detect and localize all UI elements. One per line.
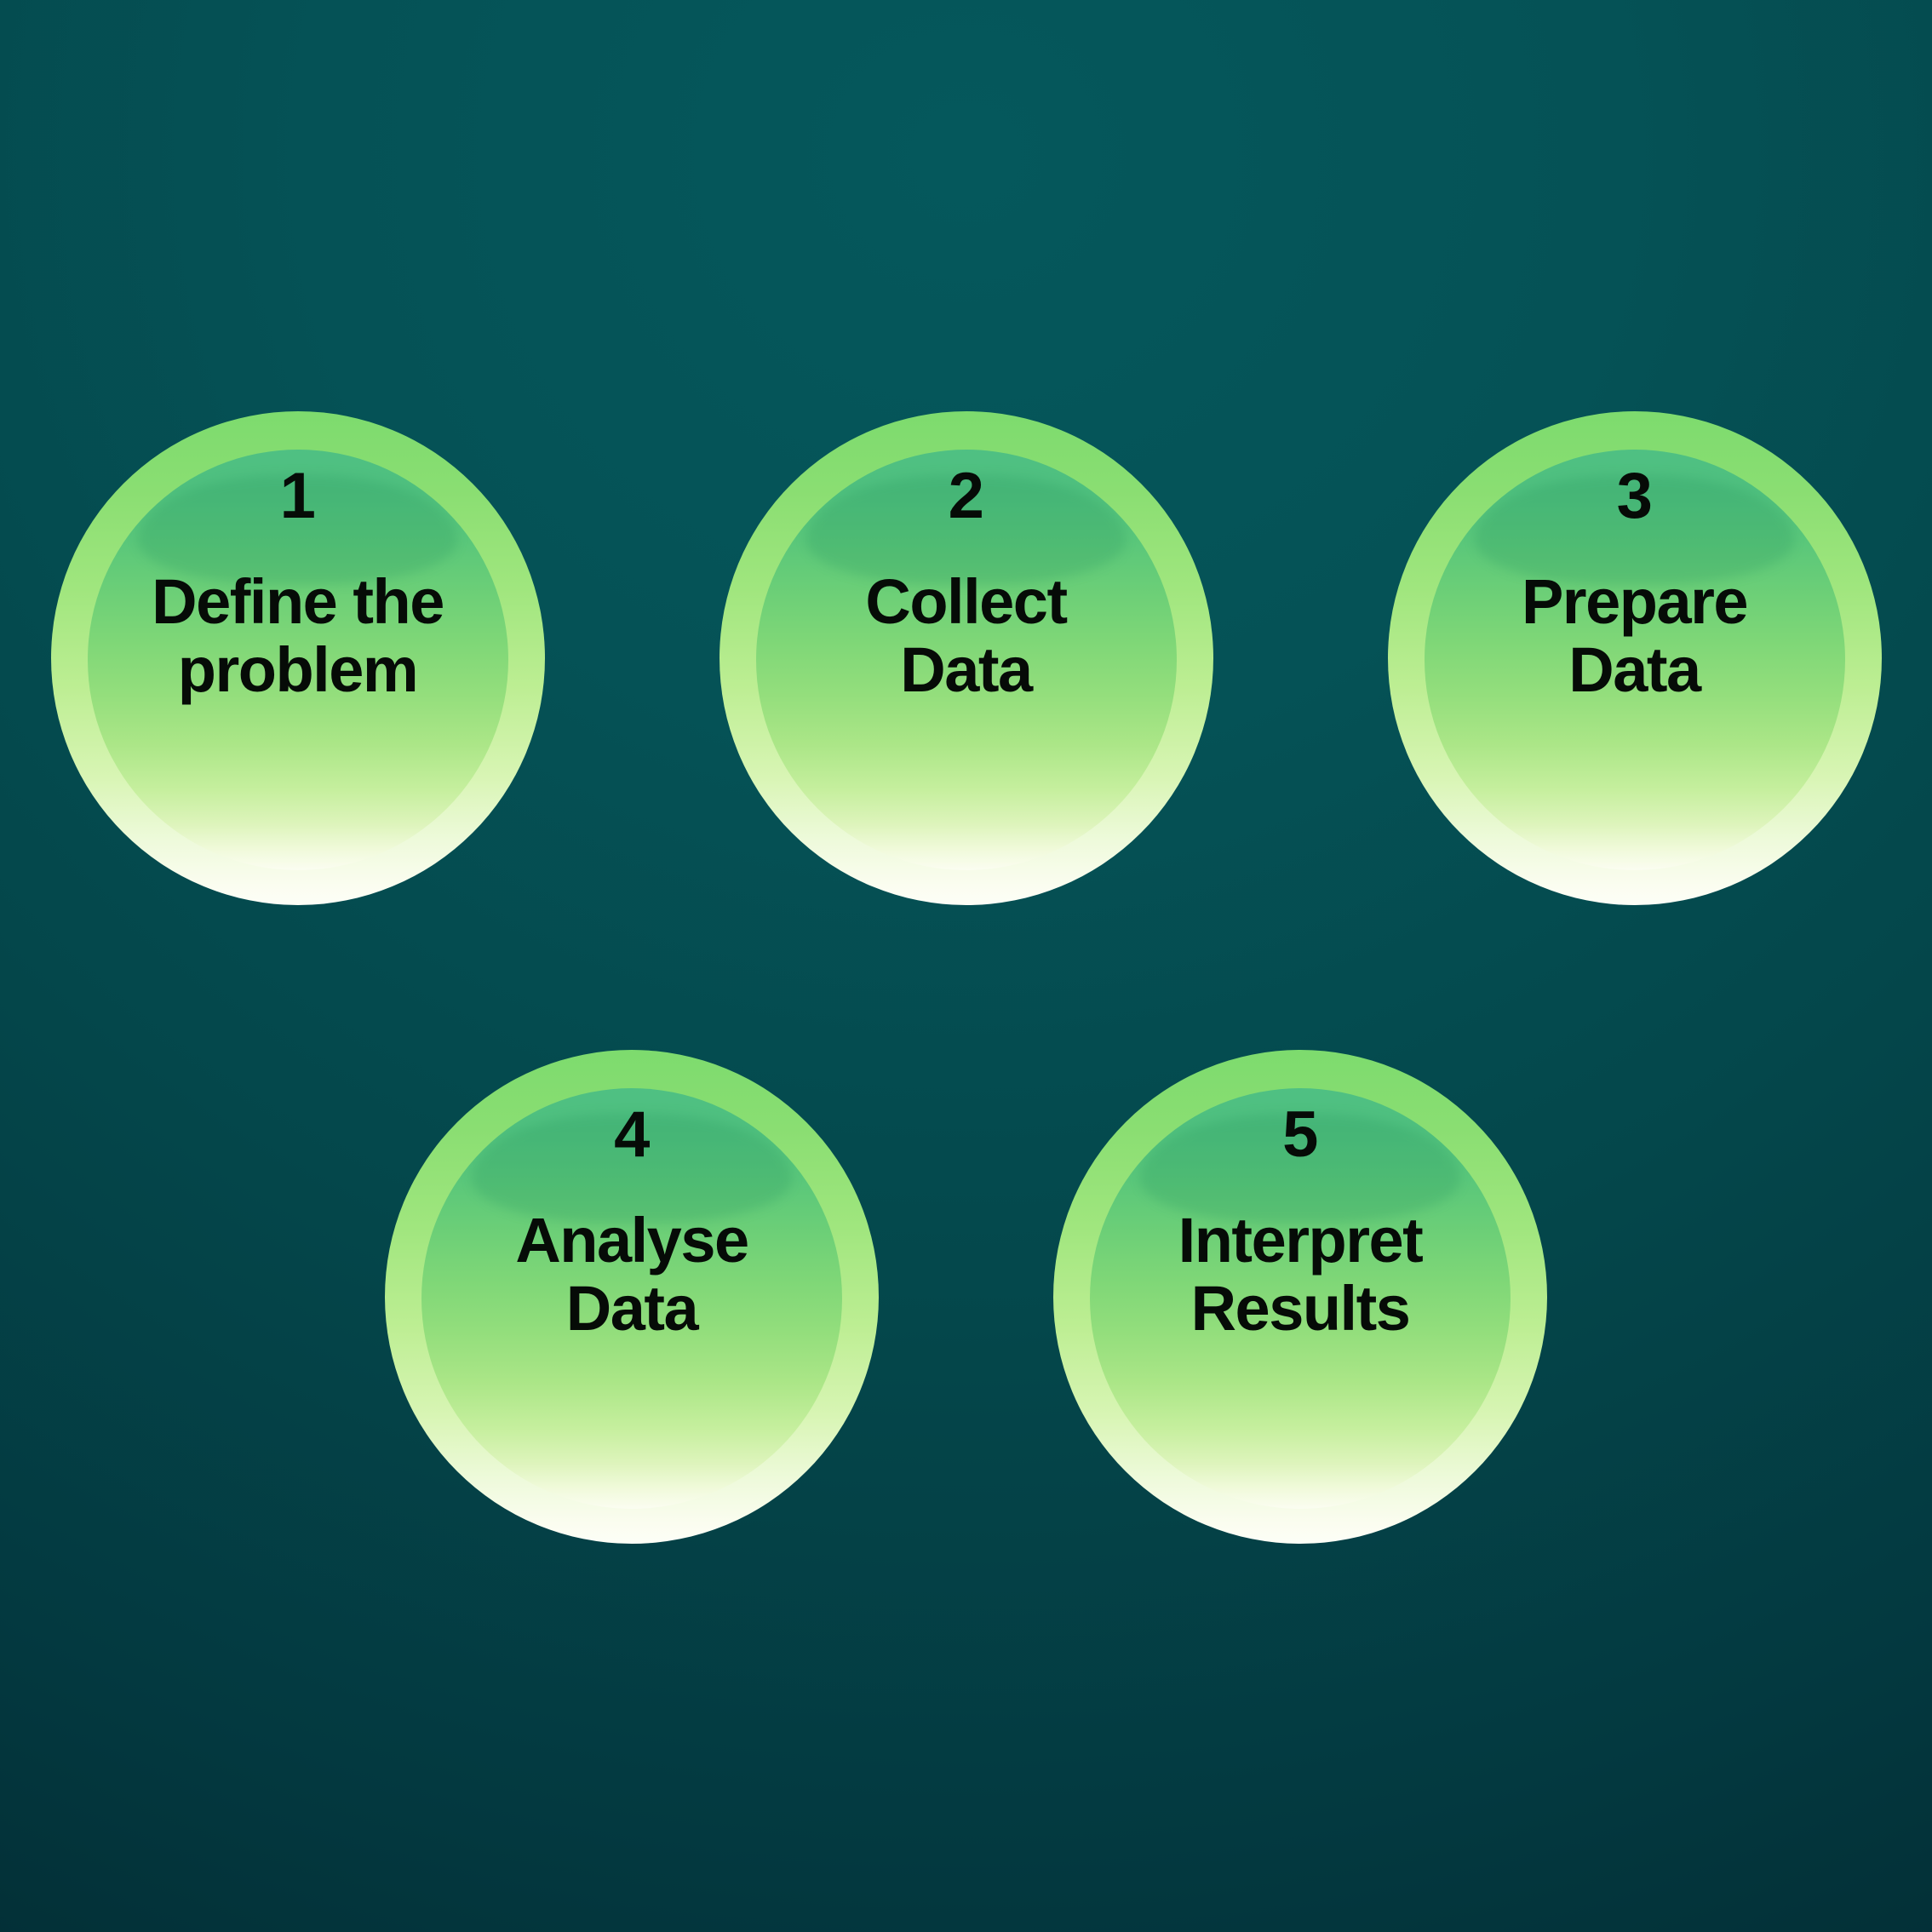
step-2-content: 2 Collect Data (719, 411, 1213, 905)
step-4-number: 4 (614, 1103, 650, 1167)
diagram-canvas: 1 Define the problem 2 Collect Data 3 Pr… (0, 0, 1932, 1932)
step-1-label: Define the problem (128, 568, 468, 704)
process-step-3[interactable]: 3 Prepare Data (1388, 411, 1882, 905)
step-1-number: 1 (280, 464, 316, 529)
step-2-label: Collect Data (796, 568, 1137, 704)
process-step-5[interactable]: 5 Interpret Results (1053, 1050, 1547, 1544)
step-1-content: 1 Define the problem (51, 411, 545, 905)
step-5-content: 5 Interpret Results (1053, 1050, 1547, 1544)
step-2-number: 2 (949, 464, 984, 529)
step-3-number: 3 (1617, 464, 1653, 529)
process-step-4[interactable]: 4 Analyse Data (385, 1050, 879, 1544)
step-3-label: Prepare Data (1465, 568, 1805, 704)
step-3-content: 3 Prepare Data (1388, 411, 1882, 905)
process-step-1[interactable]: 1 Define the problem (51, 411, 545, 905)
step-4-label: Analyse Data (462, 1207, 802, 1343)
process-step-2[interactable]: 2 Collect Data (719, 411, 1213, 905)
process-row-bottom: 4 Analyse Data 5 Interpret Results (0, 1050, 1932, 1544)
step-5-label: Interpret Results (1130, 1207, 1470, 1343)
step-5-number: 5 (1282, 1103, 1318, 1167)
process-row-top: 1 Define the problem 2 Collect Data 3 Pr… (0, 411, 1932, 905)
step-4-content: 4 Analyse Data (385, 1050, 879, 1544)
